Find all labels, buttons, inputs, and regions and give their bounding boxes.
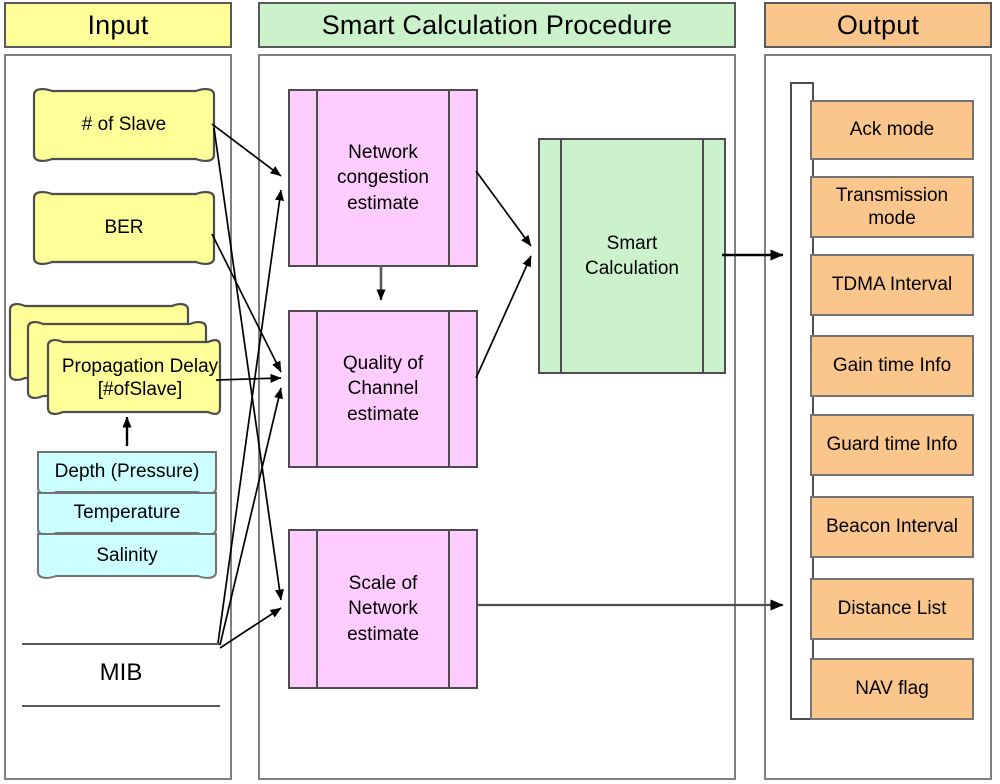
output-item-label: Ack mode	[850, 118, 934, 141]
mib-bottom-rule	[22, 705, 220, 707]
column-header-output-label: Output	[837, 12, 919, 39]
input-document-label: # of Slave	[66, 114, 183, 137]
process-smart-calculation[interactable]: Smart Calculation	[538, 138, 726, 374]
input-sensor-label: Depth (Pressure)	[39, 461, 216, 484]
input-sensor-label: Temperature	[58, 502, 197, 525]
input-sensor-salinity[interactable]: Salinity	[34, 530, 220, 582]
process-label: Smart Calculation	[540, 231, 724, 281]
process-label: Quality of Channel estimate	[290, 351, 476, 426]
output-item-label: Transmission mode	[812, 184, 972, 230]
output-item-tdma-interval[interactable]: TDMA Interval	[810, 254, 974, 316]
process-label: Scale of Network estimate	[290, 571, 476, 646]
output-item-label: Beacon Interval	[826, 515, 958, 538]
output-item-transmission-mode[interactable]: Transmission mode	[810, 176, 974, 238]
output-item-label: NAV flag	[855, 677, 929, 700]
input-document-number-of-slave[interactable]: # of Slave	[30, 85, 218, 165]
output-item-label: Distance List	[838, 597, 947, 620]
input-document-propagation-delay[interactable]: Propagation Delay [#ofSlave]	[6, 296, 224, 418]
mib-top-rule	[22, 643, 220, 645]
column-header-input-label: Input	[87, 12, 148, 39]
output-item-distance-list[interactable]: Distance List	[810, 578, 974, 640]
output-item-guard-time-info[interactable]: Guard time Info	[810, 414, 974, 476]
mib-label: MIB	[22, 661, 220, 685]
input-document-label: Propagation Delay [#ofSlave]	[48, 346, 232, 412]
diagram-canvas: Input Smart Calculation Procedure Output…	[0, 0, 1000, 784]
column-header-procedure-label: Smart Calculation Procedure	[322, 12, 673, 39]
column-header-input: Input	[4, 2, 232, 48]
input-sensor-label: Salinity	[80, 545, 173, 568]
column-header-output: Output	[764, 2, 992, 48]
column-header-procedure: Smart Calculation Procedure	[258, 2, 736, 48]
output-item-ack-mode[interactable]: Ack mode	[810, 100, 974, 160]
process-network-congestion-estimate[interactable]: Network congestion estimate	[288, 89, 478, 267]
output-item-gain-time-info[interactable]: Gain time Info	[810, 335, 974, 397]
output-item-label: TDMA Interval	[832, 273, 952, 296]
input-document-ber[interactable]: BER	[30, 188, 218, 268]
process-scale-of-network-estimate[interactable]: Scale of Network estimate	[288, 529, 478, 689]
output-item-label: Gain time Info	[833, 354, 951, 377]
process-quality-of-channel-estimate[interactable]: Quality of Channel estimate	[288, 310, 478, 468]
process-label: Network congestion estimate	[290, 140, 476, 215]
output-item-label: Guard time Info	[827, 433, 958, 456]
output-item-nav-flag[interactable]: NAV flag	[810, 658, 974, 720]
output-item-beacon-interval[interactable]: Beacon Interval	[810, 496, 974, 558]
input-document-label: BER	[88, 217, 159, 240]
